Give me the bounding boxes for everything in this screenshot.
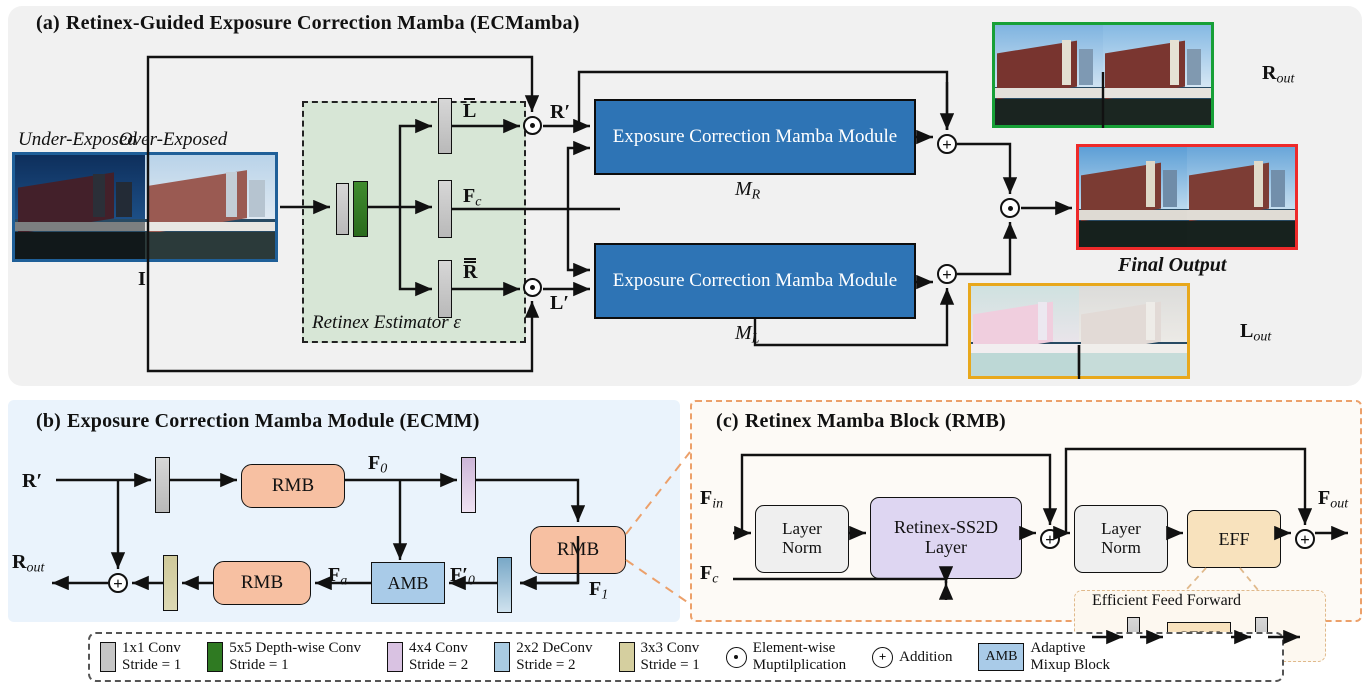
addition-node-L: + bbox=[937, 264, 957, 284]
conv-1x1-branch-Fc-icon bbox=[438, 180, 452, 238]
rmb-2-label: RMB bbox=[557, 539, 599, 561]
layer-norm-block-2[interactable]: Layer Norm bbox=[1074, 505, 1168, 573]
r-out-image-right bbox=[1103, 25, 1211, 125]
final-output-image-left bbox=[1079, 147, 1187, 247]
legend-item-elementwise-multiplication: Element-wiseMuptilplication bbox=[726, 640, 846, 674]
legend-item-conv-4x4: 4x4 ConvStride = 2 bbox=[387, 640, 468, 674]
feature-label-F0-prime: F′0 bbox=[450, 564, 475, 590]
panel-b-title-text: Exposure Correction Mamba Module (ECMM) bbox=[67, 410, 480, 432]
conv-1x1-branch-L-icon bbox=[438, 98, 452, 154]
exposure-correction-mamba-module-L[interactable]: Exposure Correction Mamba Module bbox=[594, 243, 916, 319]
exposure-correction-mamba-module-R[interactable]: Exposure Correction Mamba Module bbox=[594, 99, 916, 175]
panel-b-title: (b)Exposure Correction Mamba Module (ECM… bbox=[36, 410, 480, 433]
input-symbol-I: I bbox=[138, 268, 146, 291]
panel-c-cond-label: Fc bbox=[700, 562, 718, 588]
rmb-3-label: RMB bbox=[241, 572, 283, 594]
deconv-2x2-b-icon bbox=[497, 557, 512, 613]
amb-label: AMB bbox=[387, 573, 428, 594]
deconv-2x2-swatch-icon bbox=[494, 642, 510, 672]
mamba-module-L-label: Exposure Correction Mamba Module bbox=[613, 270, 897, 292]
legend-item-adaptive-mixup-block: AMBAdaptiveMixup Block bbox=[978, 640, 1110, 674]
legend-item-deconv-2x2: 2x2 DeConvStride = 2 bbox=[494, 640, 592, 674]
panel-c-title-lead: (c) bbox=[716, 410, 739, 432]
conv-3x3-swatch-icon bbox=[619, 642, 635, 672]
legend-label-addition: Addition bbox=[899, 649, 952, 666]
rmb-block-3[interactable]: RMB bbox=[213, 561, 311, 605]
panel-a-title-text: Retinex-Guided Exposure Correction Mamba… bbox=[66, 12, 580, 34]
eff-block[interactable]: EFF bbox=[1187, 510, 1281, 568]
conv-5x5-depthwise-icon bbox=[353, 181, 368, 237]
legend-item-addition: +Addition bbox=[872, 647, 952, 668]
rmb-1-label: RMB bbox=[272, 475, 314, 497]
panel-c-output-label: Fout bbox=[1318, 487, 1348, 513]
addition-node-c-2: + bbox=[1295, 529, 1315, 549]
input-caption-over-exposed: Over-Exposed bbox=[119, 129, 227, 151]
conv-1x1-stem-icon bbox=[336, 183, 349, 235]
addition-node-b: + bbox=[108, 573, 128, 593]
legend-item-conv-1x1: 1x1 ConvStride = 1 bbox=[100, 640, 181, 674]
l-out-image-right bbox=[1079, 286, 1187, 376]
legend-label-elementwise-multiplication: Element-wiseMuptilplication bbox=[753, 640, 846, 674]
feature-label-Fa: Fa bbox=[328, 564, 347, 590]
feature-label-F1: F1 bbox=[589, 578, 608, 604]
conv-1x1-swatch-icon bbox=[100, 642, 116, 672]
panel-a-title: (a)Retinex-Guided Exposure Correction Ma… bbox=[36, 12, 580, 35]
legend-label-conv-5x5-depthwise: 5x5 Depth-wise ConvStride = 1 bbox=[229, 640, 361, 674]
final-output-caption: Final Output bbox=[1118, 254, 1226, 277]
elementwise-mul-node-L bbox=[523, 278, 542, 297]
panel-c-title: (c)Retinex Mamba Block (RMB) bbox=[716, 410, 1006, 433]
elementwise-mul-node-R bbox=[523, 116, 542, 135]
output-image-pair-L-out bbox=[968, 283, 1190, 379]
addition-icon: + bbox=[872, 647, 893, 668]
conv-1x1-branch-R-icon bbox=[438, 260, 452, 318]
panel-c-input-label: Fin bbox=[700, 487, 723, 513]
conv-1x1-b-in-icon bbox=[155, 457, 170, 513]
elementwise-multiplication-icon bbox=[726, 647, 747, 668]
input-image-over-exposed bbox=[145, 155, 275, 259]
legend-label-conv-4x4: 4x4 ConvStride = 2 bbox=[409, 640, 468, 674]
panel-b-output-label: Rout bbox=[12, 551, 44, 577]
amb-badge-icon: AMB bbox=[978, 643, 1024, 671]
panel-a-title-lead: (a) bbox=[36, 12, 60, 34]
signal-label-R-prime: R′ bbox=[550, 101, 570, 124]
signal-label-L-prime: L′ bbox=[550, 292, 569, 315]
output-image-pair-final bbox=[1076, 144, 1298, 250]
amb-block[interactable]: AMB bbox=[371, 562, 445, 604]
rmb-block-2[interactable]: RMB bbox=[530, 526, 626, 574]
output-label-R-out: Rout bbox=[1262, 62, 1294, 88]
mamba-module-R-sublabel: MR bbox=[735, 178, 760, 204]
legend-label-conv-1x1: 1x1 ConvStride = 1 bbox=[122, 640, 181, 674]
conv-4x4-swatch-icon bbox=[387, 642, 403, 672]
panel-b-input-label: R′ bbox=[22, 470, 42, 493]
addition-node-R: + bbox=[937, 134, 957, 154]
input-image-under-exposed bbox=[15, 155, 145, 259]
panel-c-title-text: Retinex Mamba Block (RMB) bbox=[745, 410, 1006, 432]
output-label-L-out: Lout bbox=[1240, 320, 1271, 346]
mamba-module-L-sublabel: ML bbox=[735, 322, 759, 348]
conv-4x4-b-icon bbox=[461, 457, 476, 513]
legend-label-deconv-2x2: 2x2 DeConvStride = 2 bbox=[516, 640, 592, 674]
elementwise-mul-node-final bbox=[1000, 198, 1020, 218]
conv-5x5-depthwise-swatch-icon bbox=[207, 642, 223, 672]
addition-node-c-1: + bbox=[1040, 529, 1060, 549]
efficient-feed-forward-title: Efficient Feed Forward bbox=[1092, 592, 1241, 610]
branch-label-L-bar: L bbox=[463, 100, 476, 123]
legend-item-conv-3x3: 3x3 ConvStride = 1 bbox=[619, 640, 700, 674]
legend-item-conv-5x5-depthwise: 5x5 Depth-wise ConvStride = 1 bbox=[207, 640, 361, 674]
mamba-module-R-label: Exposure Correction Mamba Module bbox=[613, 126, 897, 148]
layer-norm-block-1[interactable]: Layer Norm bbox=[755, 505, 849, 573]
output-image-pair-R-out bbox=[992, 22, 1214, 128]
final-output-image-right bbox=[1187, 147, 1295, 247]
conv-3x3-b-icon bbox=[163, 555, 178, 611]
input-image-pair bbox=[12, 152, 278, 262]
legend-row: 1x1 ConvStride = 15x5 Depth-wise ConvStr… bbox=[100, 637, 1276, 677]
retinex-ss2d-layer-block[interactable]: Retinex-SS2D Layer bbox=[870, 497, 1022, 579]
branch-label-Fc: Fc bbox=[463, 185, 481, 211]
legend-label-conv-3x3: 3x3 ConvStride = 1 bbox=[641, 640, 700, 674]
feature-label-F0: F0 bbox=[368, 452, 387, 478]
panel-b-title-lead: (b) bbox=[36, 410, 61, 432]
rmb-block-1[interactable]: RMB bbox=[241, 464, 345, 508]
legend-label-adaptive-mixup-block: AdaptiveMixup Block bbox=[1030, 640, 1110, 674]
branch-label-R-bar: R bbox=[463, 261, 477, 284]
r-out-image-left bbox=[995, 25, 1103, 125]
l-out-image-left bbox=[971, 286, 1079, 376]
